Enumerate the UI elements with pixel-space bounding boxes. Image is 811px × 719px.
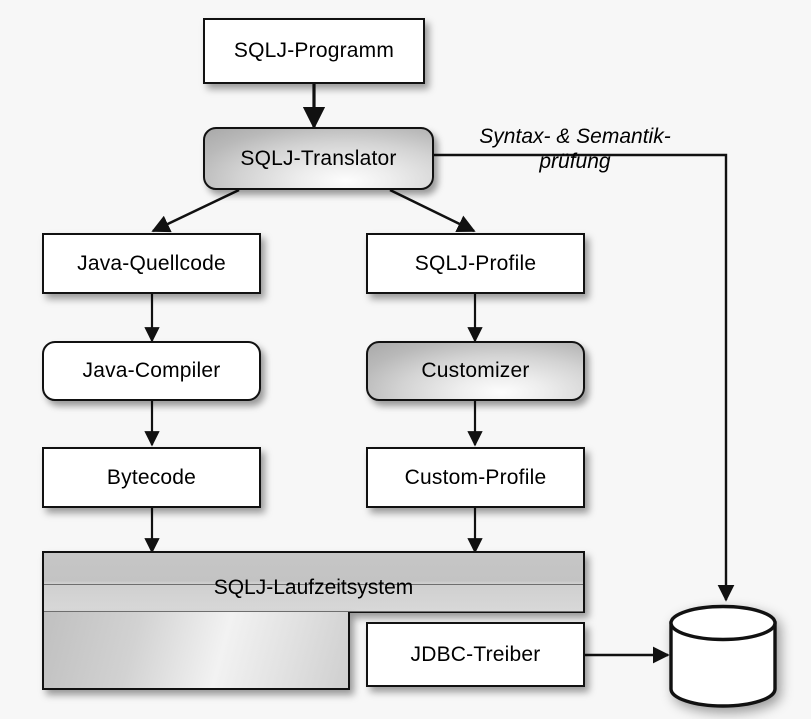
node-jdbc-treiber[interactable]: JDBC-Treiber xyxy=(366,622,585,687)
node-sqlj-translator[interactable]: SQLJ-Translator xyxy=(203,127,434,190)
node-sqlj-profile[interactable]: SQLJ-Profile xyxy=(366,233,585,294)
node-label: Customizer xyxy=(421,359,529,382)
node-sqlj-programm[interactable]: SQLJ-Programm xyxy=(203,18,425,84)
node-label: JDBC-Treiber xyxy=(411,643,541,666)
node-label: Bytecode xyxy=(107,466,196,489)
node-bytecode[interactable]: Bytecode xyxy=(42,447,261,508)
node-sqlj-laufzeitsystem-body[interactable] xyxy=(42,612,350,690)
edge-translator-to-profile xyxy=(390,190,474,231)
node-java-compiler[interactable]: Java-Compiler xyxy=(42,341,261,401)
node-label: SQLJ-Programm xyxy=(234,39,394,62)
runtime-divider-2 xyxy=(44,611,583,612)
edge-translator-to-quellcode xyxy=(153,190,239,231)
node-label: Java-Quellcode xyxy=(77,252,226,275)
datenbank-cylinder xyxy=(668,604,778,708)
node-label: SQLJ-Translator xyxy=(240,147,396,170)
node-label: Custom-Profile xyxy=(405,466,547,489)
node-customizer[interactable]: Customizer xyxy=(366,341,585,401)
sqlj-architecture-diagram: SQLJ-Programm SQLJ-Translator Syntax- & … xyxy=(0,0,811,719)
node-custom-profile[interactable]: Custom-Profile xyxy=(366,447,585,508)
node-label: SQLJ-Profile xyxy=(415,252,536,275)
node-java-quellcode[interactable]: Java-Quellcode xyxy=(42,233,261,294)
runtime-label: SQLJ-Laufzeitsystem xyxy=(42,576,585,600)
annotation-syntax-semantik: Syntax- & Semantik- prüfung xyxy=(450,125,700,175)
node-label: Java-Compiler xyxy=(83,359,221,382)
